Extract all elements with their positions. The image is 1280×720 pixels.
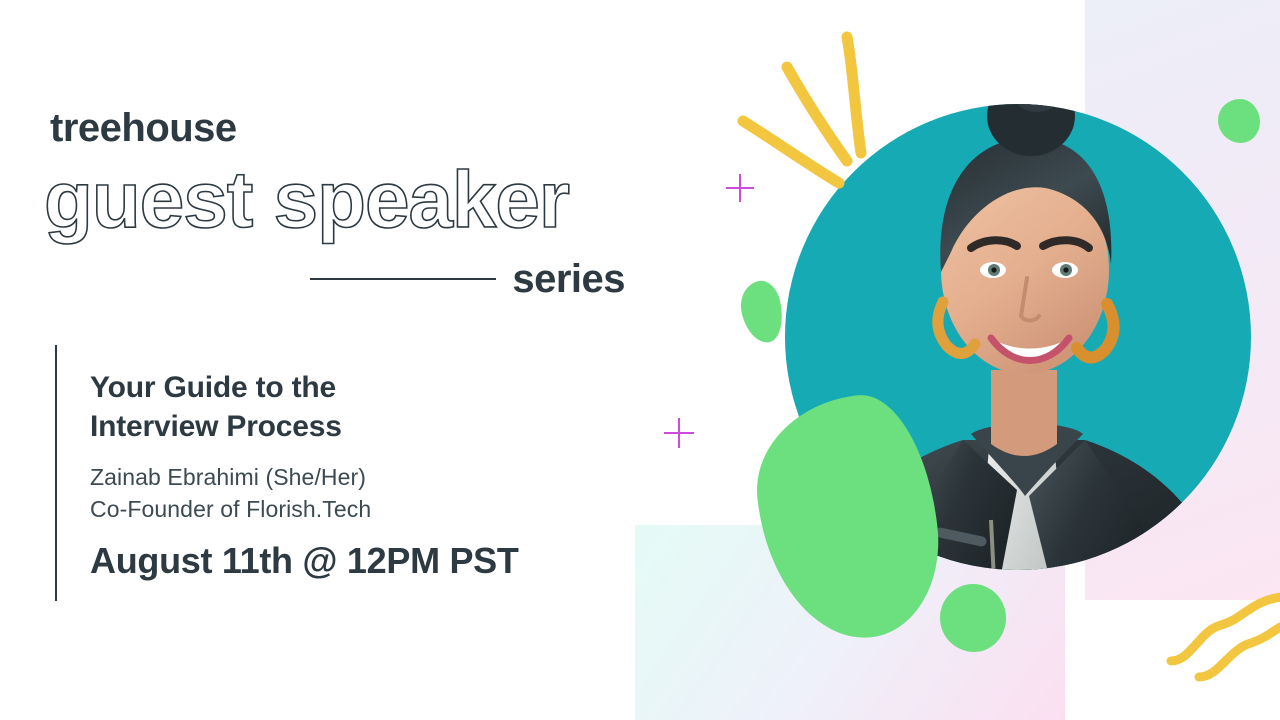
speaker-role: Co-Founder of Florish.Tech bbox=[90, 494, 610, 526]
vertical-accent-rule bbox=[55, 345, 57, 601]
event-datetime: August 11th @ 12PM PST bbox=[90, 541, 610, 581]
headline-outline: guest speaker bbox=[44, 160, 569, 240]
green-blob-icon-left bbox=[736, 278, 788, 347]
talk-details: Your Guide to the Interview Process Zain… bbox=[90, 368, 610, 581]
green-circle-icon-bottom bbox=[940, 584, 1006, 652]
slide-canvas: treehouse guest speaker series Your Guid… bbox=[0, 0, 1280, 720]
series-divider-rule bbox=[310, 278, 496, 280]
yellow-brush-strokes-icon bbox=[735, 25, 910, 225]
speaker-name: Zainab Ebrahimi (She/Her) bbox=[90, 462, 610, 494]
talk-title: Your Guide to the Interview Process bbox=[90, 368, 610, 446]
yellow-wavy-lines-icon bbox=[1155, 575, 1280, 685]
brand-wordmark: treehouse bbox=[50, 108, 237, 148]
plus-icon-lower bbox=[664, 418, 694, 448]
series-word: series bbox=[512, 259, 625, 299]
series-row: series bbox=[310, 255, 625, 303]
plus-icon-upper bbox=[726, 174, 754, 202]
